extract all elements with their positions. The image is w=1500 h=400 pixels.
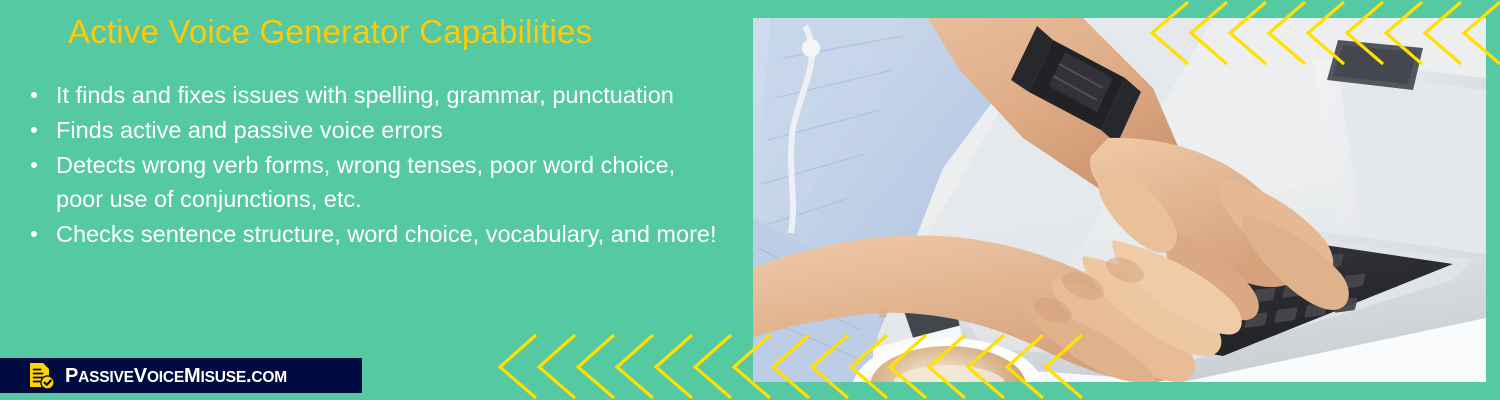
logo-text-v: V [134, 365, 147, 387]
bullet-dot-icon [31, 92, 37, 98]
promo-banner: Active Voice Generator Capabilities It f… [0, 0, 1500, 400]
document-check-icon [27, 362, 55, 390]
site-logo-bar[interactable]: PASSIVEVOICEMISUSE.COM [0, 358, 362, 393]
logo-text-p: P [65, 365, 78, 387]
list-item: It finds and fixes issues with spelling,… [24, 78, 724, 112]
list-item-label: Checks sentence structure, word choice, … [56, 221, 717, 247]
bullet-dot-icon [31, 231, 37, 237]
logo-text-com: COM [251, 369, 287, 386]
list-item: Detects wrong verb forms, wrong tenses, … [24, 148, 724, 216]
hero-photo [753, 18, 1486, 382]
site-logo-text: PASSIVEVOICEMISUSE.COM [65, 366, 287, 386]
logo-text-m: M [184, 365, 200, 387]
logo-text-isuse: ISUSE [201, 369, 247, 386]
logo-text-assive: ASSIVE [78, 369, 134, 386]
list-item-label: It finds and fixes issues with spelling,… [56, 82, 674, 108]
list-item-label: Detects wrong verb forms, wrong tenses, … [56, 152, 675, 212]
bullet-dot-icon [31, 127, 37, 133]
photo-artwork [753, 18, 1486, 382]
document-check-glyph [27, 362, 55, 390]
list-item-label: Finds active and passive voice errors [56, 117, 443, 143]
logo-text-oice: OICE [147, 369, 184, 386]
page-title: Active Voice Generator Capabilities [68, 13, 592, 51]
list-item: Checks sentence structure, word choice, … [24, 217, 724, 251]
list-item: Finds active and passive voice errors [24, 113, 724, 147]
bullet-dot-icon [31, 162, 37, 168]
capabilities-list: It finds and fixes issues with spelling,… [24, 78, 724, 252]
